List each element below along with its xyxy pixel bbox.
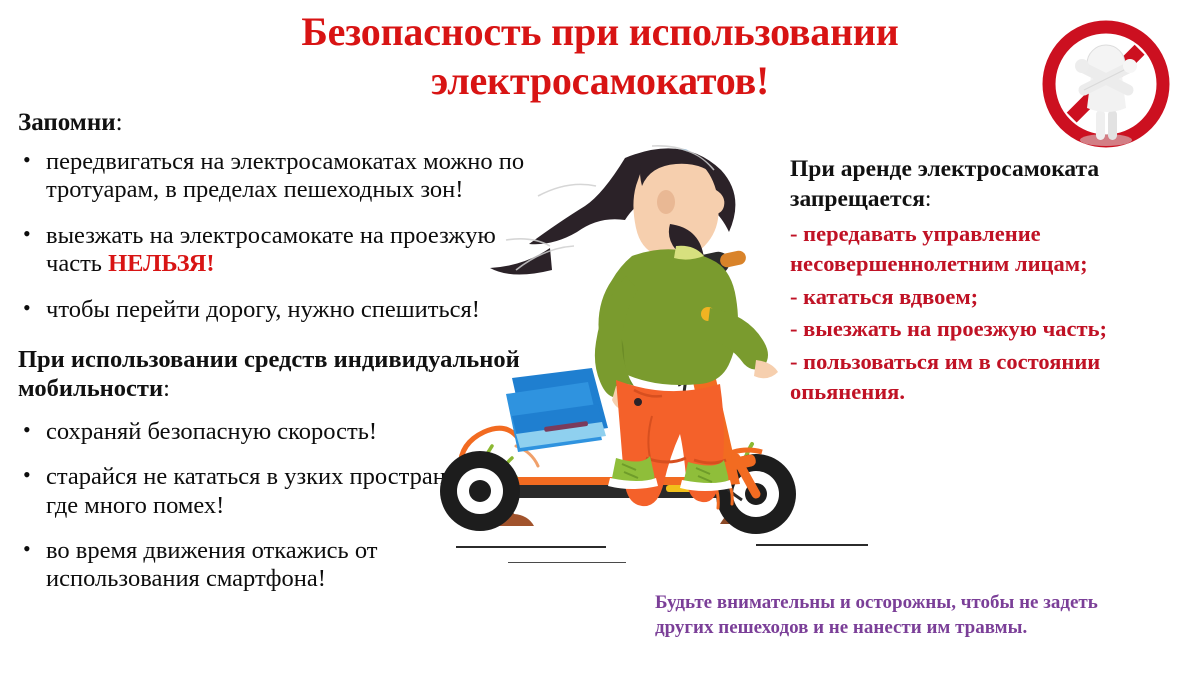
prohibition-list: - передавать управление несовершеннолетн… (790, 219, 1190, 408)
lead-heading-colon: : (116, 109, 123, 136)
bullet-text: чтобы перейти дорогу, нужно спешиться! (46, 296, 480, 323)
bullet-text: во время движения откажись от использова… (46, 537, 378, 592)
bullet-text: сохраняй безопасную скорость! (46, 418, 377, 445)
list-item: - передавать управление несовершеннолетн… (790, 219, 1190, 279)
poster-root: Безопасность при использовании электроса… (0, 0, 1200, 675)
list-item: - выезжать на проезжую часть; (790, 314, 1190, 344)
list-item: - пользоваться им в состоянии опьянения. (790, 347, 1190, 407)
ground-line-center (508, 562, 626, 563)
lead-heading-text: Запомни (18, 109, 116, 136)
page-title: Безопасность при использовании электроса… (150, 8, 1050, 106)
rental-prohibition-heading: При аренде электросамоката запрещается: (790, 155, 1190, 215)
section-heading-colon: : (163, 375, 170, 402)
rental-heading-colon: : (925, 186, 932, 212)
ground-line-right (756, 544, 868, 546)
girl-riding-electric-scooter-illustration (420, 128, 840, 553)
bullet-text-after: ! (206, 250, 214, 277)
footer-warning-note: Будьте внимательны и осторожны, чтобы не… (655, 590, 1195, 640)
list-item: - кататься вдвоем; (790, 282, 1190, 312)
prohibition-sign-icon (1036, 14, 1176, 154)
ground-line-left (456, 546, 606, 548)
bullet-highlight: НЕЛЬЗЯ (108, 250, 206, 277)
right-content-column: При аренде электросамоката запрещается: … (790, 155, 1190, 410)
